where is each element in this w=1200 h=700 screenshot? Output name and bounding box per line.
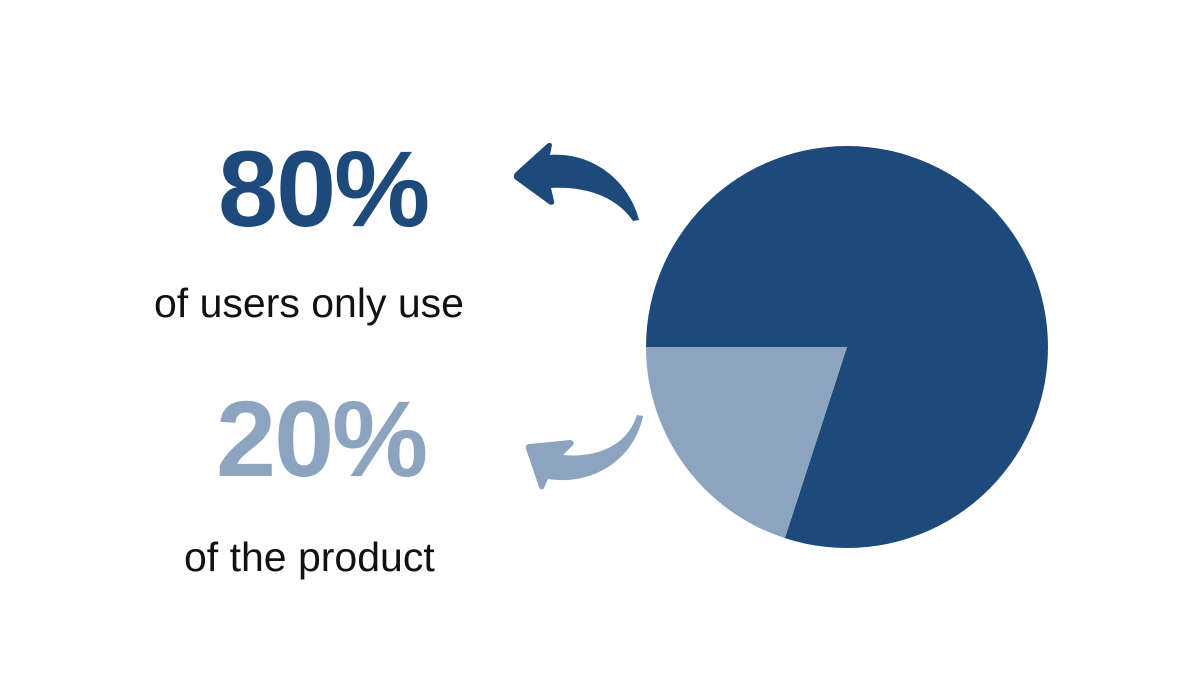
curved-arrow-left-icon-top — [478, 142, 640, 222]
stat-caption-secondary: of the product — [184, 537, 435, 578]
curved-arrow-left-icon-bottom — [482, 408, 644, 488]
stat-value-primary: 80% — [218, 135, 428, 243]
stat-caption-primary: of users only use — [154, 283, 464, 324]
pie-chart — [646, 146, 1048, 548]
stat-value-secondary: 20% — [216, 385, 426, 493]
infographic-canvas: 80% of users only use 20% of the product — [0, 0, 1200, 700]
